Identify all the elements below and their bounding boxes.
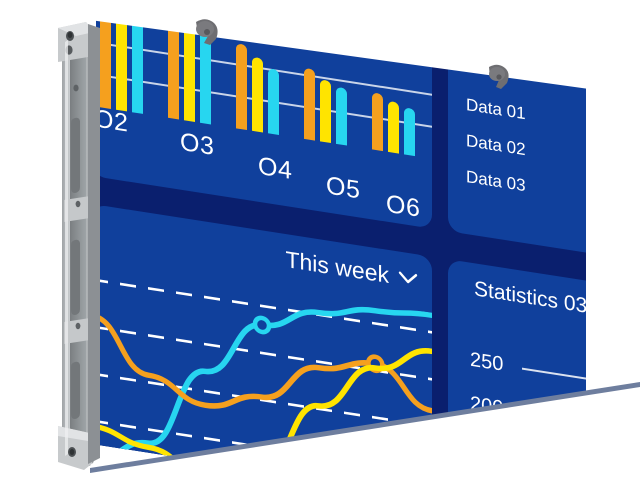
- legend-item-label: Data 02: [466, 131, 526, 160]
- top-edge-mask: [90, 0, 640, 110]
- period-label: This week: [285, 246, 389, 289]
- chevron-down-icon[interactable]: [398, 270, 418, 286]
- mounting-clip-icon: [484, 62, 514, 94]
- line-data-point-marker[interactable]: [255, 317, 269, 333]
- product-photo: O2O3O4O5O6 Data 01Data 02Data 03 This we…: [0, 0, 640, 480]
- led-panel-assembly: O2O3O4O5O6 Data 01Data 02Data 03 This we…: [0, 0, 640, 480]
- mounting-clip-icon: [190, 16, 222, 50]
- bar[interactable]: [404, 108, 415, 157]
- legend-item-label: Data 03: [466, 167, 526, 196]
- bar-chart-x-label: O6: [386, 190, 420, 224]
- period-selector[interactable]: This week: [285, 246, 418, 294]
- statistics-title: Statistics 03: [474, 277, 587, 319]
- cabinet-side-wall: [88, 18, 102, 470]
- legend-item[interactable]: Data 03: [466, 164, 588, 213]
- bar-chart-x-label: O4: [258, 152, 292, 186]
- cabinet-bottom-edge: [90, 370, 640, 480]
- bar-chart-x-label: O5: [326, 171, 360, 205]
- bar-chart-x-label: O3: [180, 128, 214, 162]
